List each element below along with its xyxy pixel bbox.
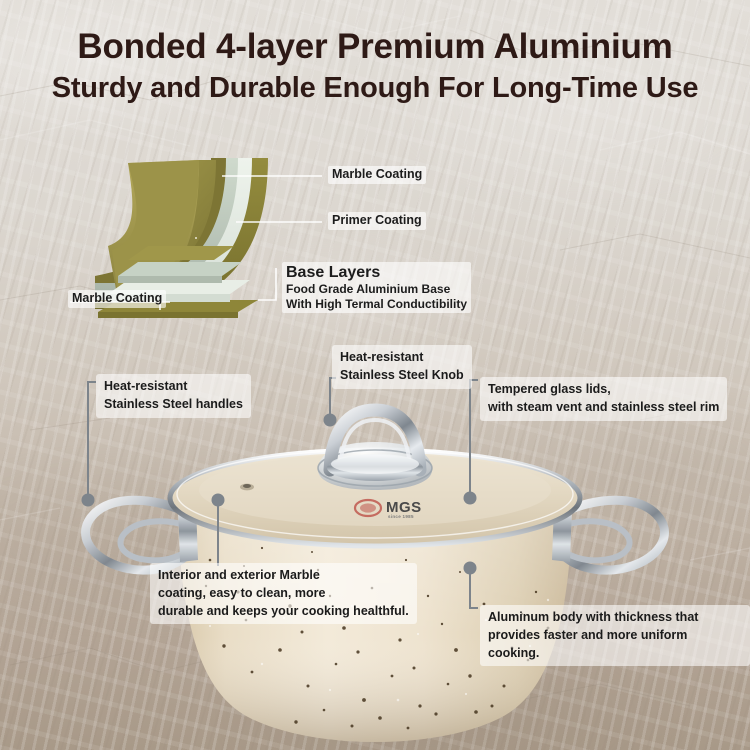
infographic-canvas: Bonded 4-layer Premium Aluminium Sturdy … xyxy=(0,0,750,750)
base-layers-title: Base Layers xyxy=(286,263,467,282)
callout-body: Aluminum body with thickness that provid… xyxy=(480,605,750,666)
diagram-label-primer: Primer Coating xyxy=(328,212,426,230)
callout-knob: Heat-resistant Stainless Steel Knob xyxy=(332,345,472,389)
diagram-label-marble-bottom: Marble Coating xyxy=(68,290,166,308)
page-subtitle: Sturdy and Durable Enough For Long-Time … xyxy=(0,73,750,104)
base-layers-line1: Food Grade Aluminium Base xyxy=(286,282,467,297)
callout-handles: Heat-resistant Stainless Steel handles xyxy=(96,374,251,418)
base-layers-line2: With High Termal Conductibility xyxy=(286,297,467,312)
page-title: Bonded 4-layer Premium Aluminium xyxy=(0,28,750,65)
diagram-label-marble-top: Marble Coating xyxy=(328,166,426,184)
callout-lid: Tempered glass lids, with steam vent and… xyxy=(480,377,727,421)
diagram-label-base-layers: Base Layers Food Grade Aluminium Base Wi… xyxy=(282,262,471,313)
brand-tagline: since 1985 xyxy=(388,514,414,519)
callout-coating: Interior and exterior Marble coating, ea… xyxy=(150,563,417,624)
headline-block: Bonded 4-layer Premium Aluminium Sturdy … xyxy=(0,28,750,104)
